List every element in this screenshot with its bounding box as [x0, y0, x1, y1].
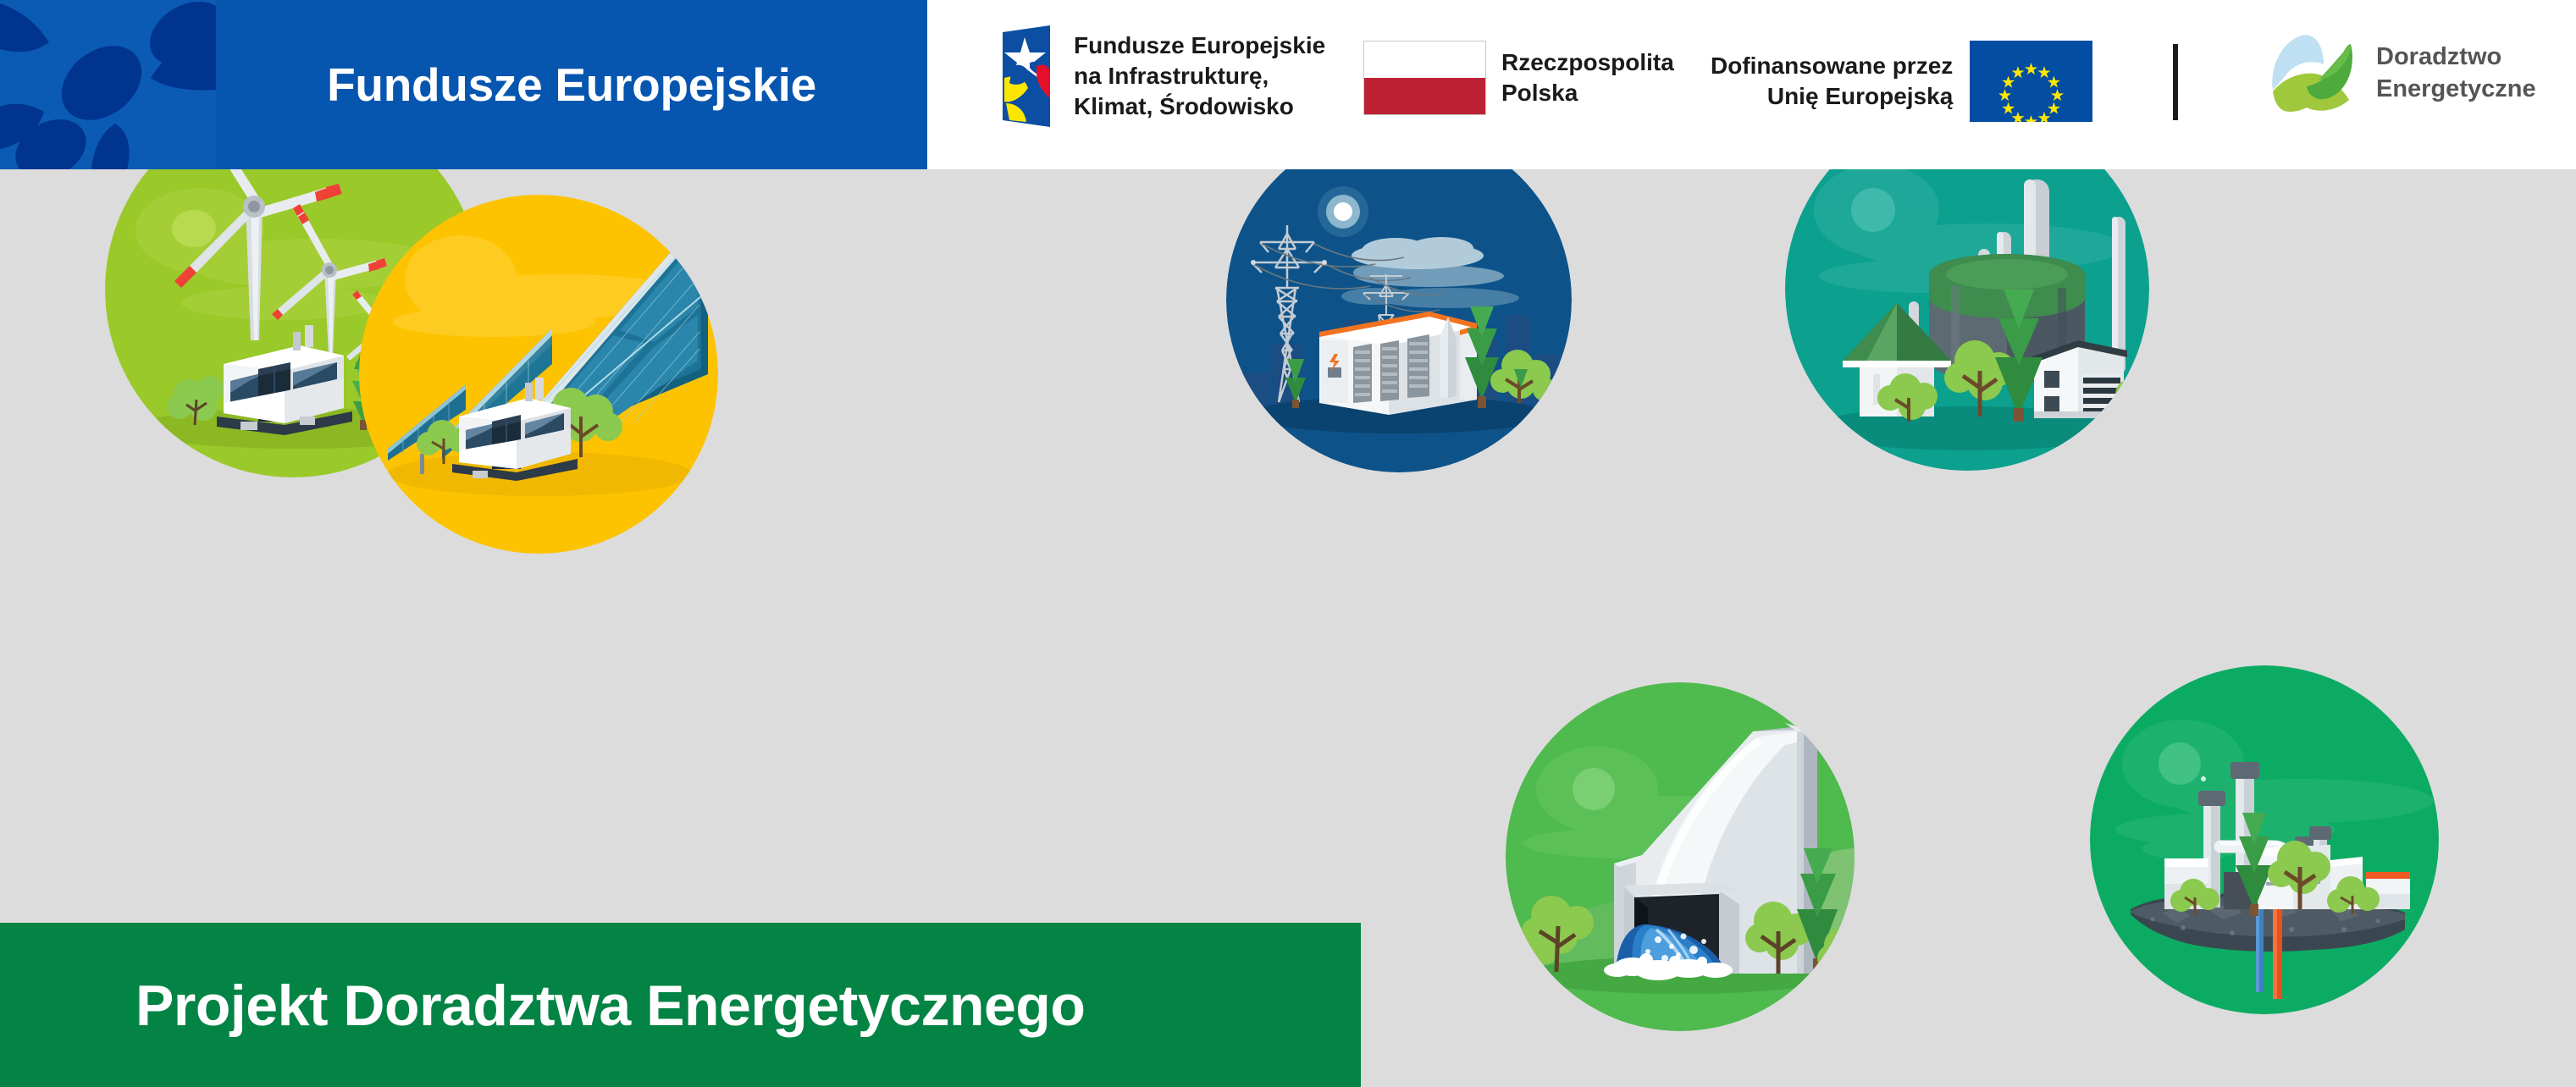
illustration-power-substation: [1226, 169, 1572, 472]
logo-text-doradztwo-energetyczne: Doradztwo Energetyczne: [2376, 41, 2536, 105]
illustration-hydro-power: [1506, 682, 1855, 1031]
fundusze-europejskie-mark-icon: [999, 25, 1059, 127]
logo-line: Fundusze Europejskie: [1074, 30, 1325, 61]
header-vertical-divider: [2173, 44, 2178, 120]
illustration-geothermal-plant: [2090, 665, 2439, 1014]
decorative-star-pattern: [0, 0, 216, 169]
page-header: Fundusze Europejskie Fundusze Europejski…: [0, 0, 2576, 169]
logo-fundusze-europejskie-infrastruktura: Fundusze Europejskie na Infrastrukturę, …: [999, 25, 1325, 127]
logo-doradztwo-energetyczne: Doradztwo Energetyczne: [2261, 27, 2536, 120]
doradztwo-energetyczne-leaf-icon: [2261, 27, 2363, 120]
logo-text-rzeczpospolita-polska: Rzeczpospolita Polska: [1501, 47, 1674, 108]
logo-line: Unię Europejską: [1711, 81, 1953, 112]
logo-line: Rzeczpospolita: [1501, 47, 1674, 78]
banner-project-title: Projekt Doradztwa Energetycznego: [0, 923, 1361, 1087]
logo-text-fe-infrastruktura: Fundusze Europejskie na Infrastrukturę, …: [1074, 30, 1325, 121]
fundusze-europejskie-banner: Fundusze Europejskie: [0, 0, 927, 169]
logo-line: Doradztwo: [2376, 41, 2536, 74]
polish-flag-icon: [1363, 41, 1486, 115]
logo-line: Klimat, Środowisko: [1074, 91, 1325, 122]
logo-line: Dofinansowane przez: [1711, 51, 1953, 81]
logo-line: na Infrastrukturę,: [1074, 61, 1325, 91]
fundusze-europejskie-title: Fundusze Europejskie: [216, 0, 927, 169]
logo-text-unia-europejska: Dofinansowane przez Unię Europejską: [1711, 51, 1953, 112]
illustration-solar-farm: [359, 195, 718, 554]
logo-line: Polska: [1501, 78, 1674, 108]
european-union-flag-icon: [1970, 41, 2092, 122]
illustration-biogas-plant: [1785, 169, 2149, 471]
logo-dofinansowane-przez-unie-europejska: Dofinansowane przez Unię Europejską: [1711, 41, 2092, 122]
banner-project-title-text: Projekt Doradztwa Energetycznego: [0, 973, 1085, 1039]
logo-rzeczpospolita-polska: Rzeczpospolita Polska: [1363, 41, 1674, 115]
illustration-canvas: Projekt Doradztwa Energetycznego Z energ…: [0, 169, 2576, 1087]
logo-line: Energetyczne: [2376, 74, 2536, 106]
